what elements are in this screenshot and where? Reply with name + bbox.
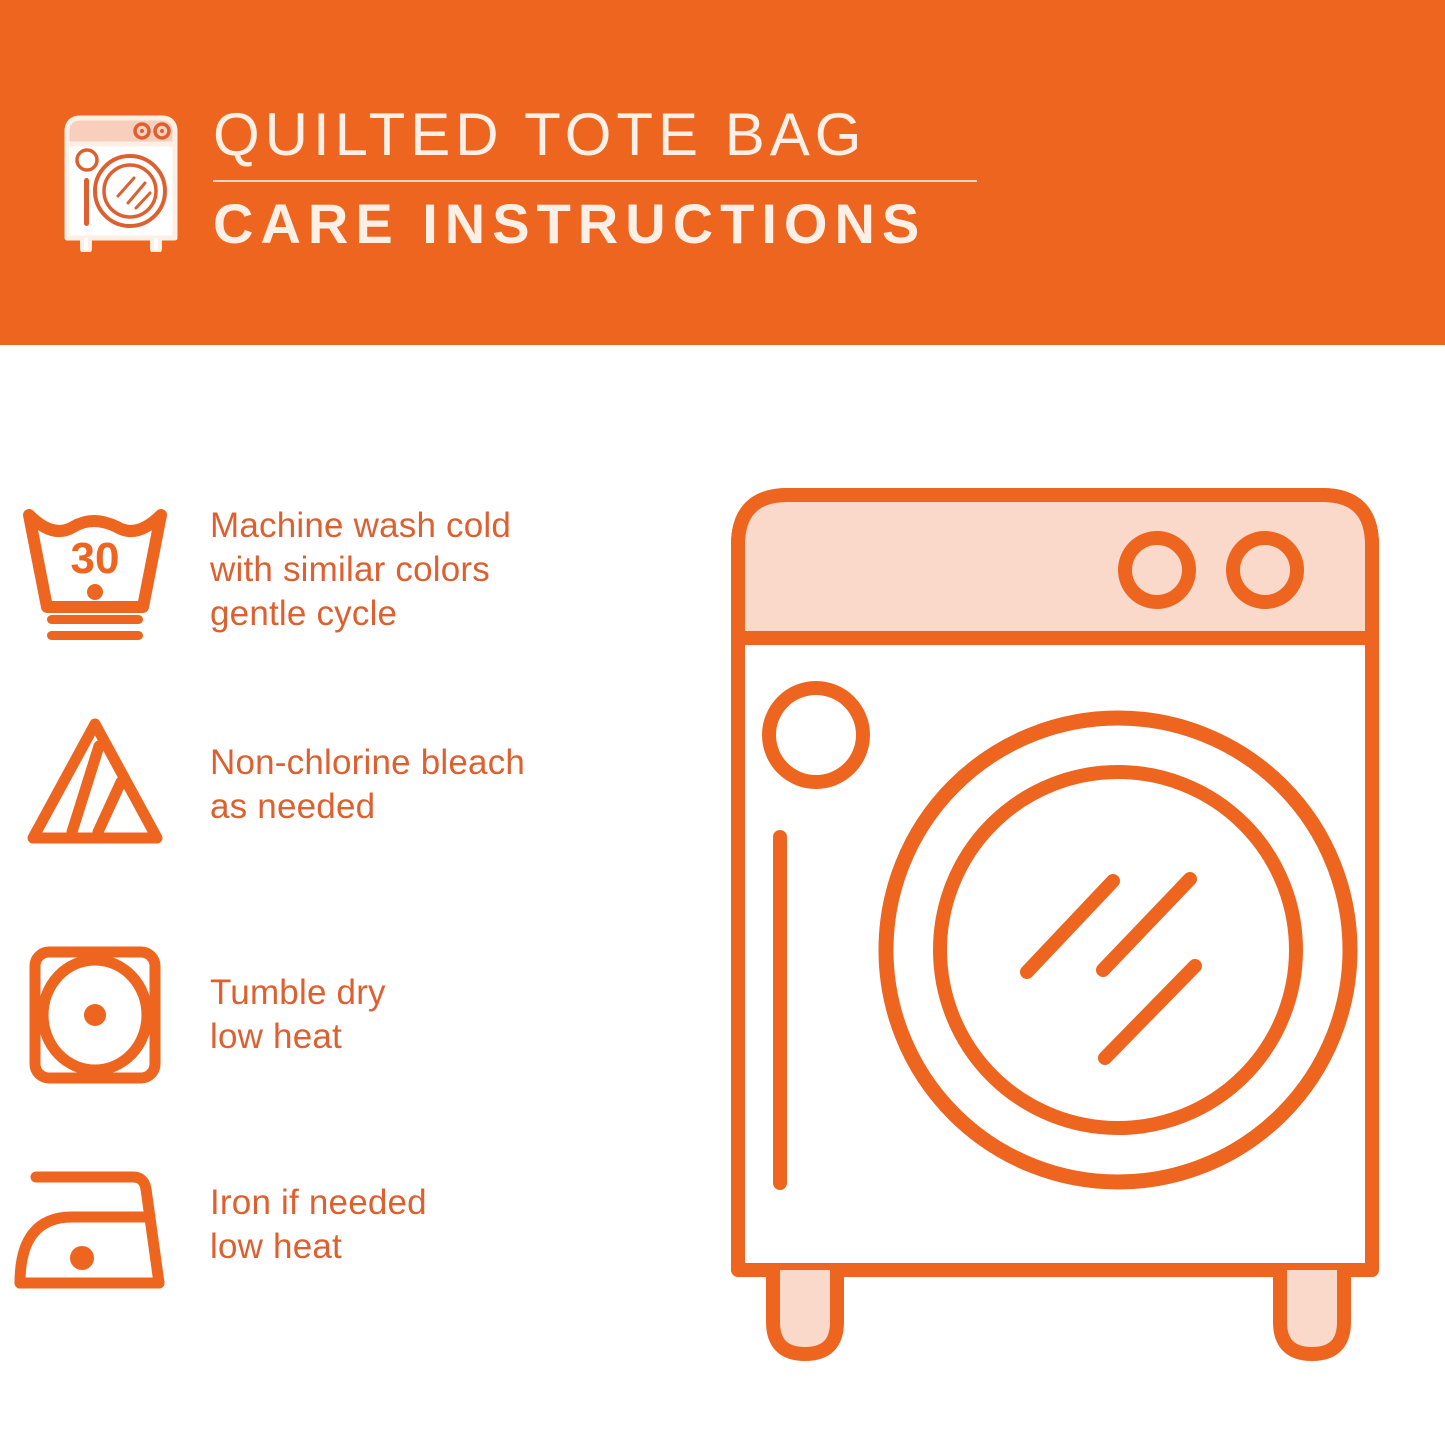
care-item-bleach: Non-chlorine bleach as needed (0, 705, 640, 865)
care-item-tumble-dry: Tumble dry low heat (0, 935, 640, 1095)
page-subtitle: CARE INSTRUCTIONS (213, 192, 1003, 256)
svg-text:30: 30 (71, 534, 120, 583)
bleach-triangle-icon (0, 705, 190, 865)
header-banner: QUILTED TOTE BAG CARE INSTRUCTIONS (0, 0, 1445, 345)
page-title: QUILTED TOTE BAG (213, 100, 1003, 170)
care-item-label: Iron if needed low heat (190, 1181, 427, 1269)
care-item-label: Machine wash cold with similar colors ge… (190, 504, 511, 636)
header-title-block: QUILTED TOTE BAG CARE INSTRUCTIONS (213, 100, 1003, 256)
care-item-label: Non-chlorine bleach as needed (190, 741, 525, 829)
washing-machine-illustration (720, 470, 1400, 1390)
care-instructions-poster: QUILTED TOTE BAG CARE INSTRUCTIONS 30 Ma… (0, 0, 1445, 1445)
iron-icon (0, 1145, 190, 1305)
care-item-label: Tumble dry low heat (190, 971, 386, 1059)
care-item-machine-wash: 30 Machine wash cold with similar colors… (0, 490, 640, 650)
washing-machine-icon (62, 104, 180, 252)
care-item-iron: Iron if needed low heat (0, 1150, 640, 1300)
title-divider (213, 180, 977, 182)
tumble-dry-icon (0, 935, 190, 1095)
wash-tub-30-icon: 30 (0, 490, 190, 650)
